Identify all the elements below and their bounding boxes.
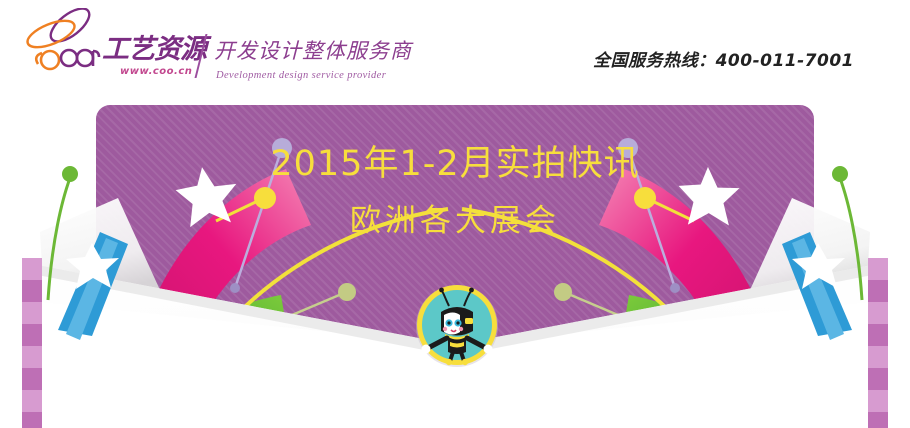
envelope-corner-left: [0, 150, 96, 300]
hotline-label: 全国服务热线：: [593, 51, 716, 71]
green-pin-icon-left: [48, 166, 78, 300]
bee-mascot-icon[interactable]: [414, 282, 500, 368]
rose-pin-icon: [286, 341, 347, 363]
olive-pin-icon: [554, 283, 618, 315]
green-pin-icon-right: [832, 166, 862, 300]
banner-stage: 工艺资源 www.coo.cn 开发设计整体服务商 Development de…: [0, 0, 910, 428]
tagline-english: Development design service provider: [216, 70, 386, 81]
brand-name-cn: 工艺资源: [102, 36, 206, 63]
lilac-dot-icon: [230, 283, 240, 293]
tagline-chinese: 开发设计整体服务商: [214, 41, 412, 62]
brand-website: www.coo.cn: [120, 66, 192, 77]
olive-pin-icon: [292, 283, 356, 315]
service-hotline: 全国服务热线：400-011-7001: [593, 46, 854, 71]
hotline-number: 400-011-7001: [716, 51, 854, 71]
lilac-dot-icon: [670, 283, 680, 293]
white-star-icon: [174, 165, 239, 228]
rose-pin-icon: [563, 341, 624, 363]
page-header: 工艺资源 www.coo.cn 开发设计整体服务商 Development de…: [0, 0, 910, 100]
envelope-corner-right: [814, 150, 910, 300]
stripe-bar-left: [22, 258, 42, 428]
butterfly-logo-icon: [24, 8, 110, 74]
company-logo[interactable]: 工艺资源 www.coo.cn 开发设计整体服务商 Development de…: [24, 8, 374, 88]
stripe-bar-right: [868, 258, 888, 428]
